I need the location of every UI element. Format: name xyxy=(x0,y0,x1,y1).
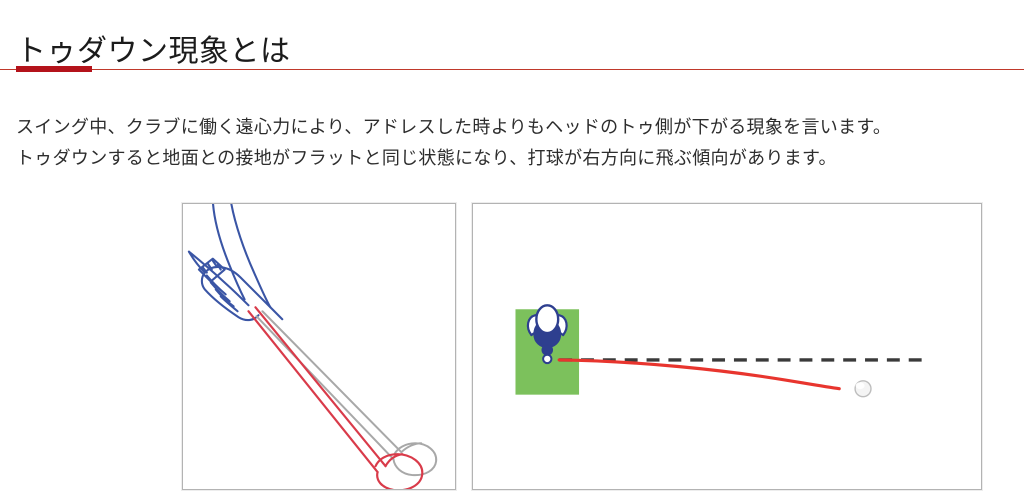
club-address-outline xyxy=(256,311,436,475)
title-rule xyxy=(0,69,1024,70)
title-rule-accent xyxy=(16,66,92,72)
ball-flight-illustration-svg xyxy=(473,204,981,489)
ball-flight-panel xyxy=(472,203,982,490)
description-text: スイング中、クラブに働く遠心力により、アドレスした時よりもヘッドのトゥ側が下がる… xyxy=(16,112,1006,174)
description-line-2: トゥダウンすると地面との接地がフラットと同じ状態になり、打球が右方向に飛ぶ傾向が… xyxy=(16,143,1006,174)
gloved-hand-icon xyxy=(189,252,282,320)
ball-flight-line xyxy=(559,360,839,389)
description-line-1: スイング中、クラブに働く遠心力により、アドレスした時よりもヘッドのトゥ側が下がる… xyxy=(16,112,1006,143)
swing-illustration-svg xyxy=(183,204,455,489)
golf-ball-highlight xyxy=(856,382,865,389)
figure-row xyxy=(0,203,1024,493)
toe-down-swing-panel xyxy=(182,203,456,490)
